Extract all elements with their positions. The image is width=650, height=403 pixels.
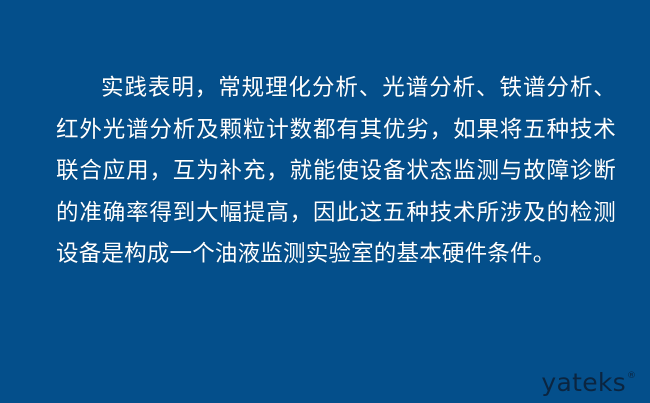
body-paragraph: 实践表明，常规理化分析、光谱分析、铁谱分析、红外光谱分析及颗粒计数都有其优劣，如…: [56, 68, 616, 276]
registered-trademark-icon: ®: [627, 372, 636, 381]
logo-wordmark: yateks: [541, 370, 626, 395]
yateks-logo: yateks ®: [541, 370, 636, 395]
presentation-slide: 实践表明，常规理化分析、光谱分析、铁谱分析、红外光谱分析及颗粒计数都有其优劣，如…: [0, 0, 650, 403]
slide-body-text: 实践表明，常规理化分析、光谱分析、铁谱分析、红外光谱分析及颗粒计数都有其优劣，如…: [56, 68, 616, 276]
